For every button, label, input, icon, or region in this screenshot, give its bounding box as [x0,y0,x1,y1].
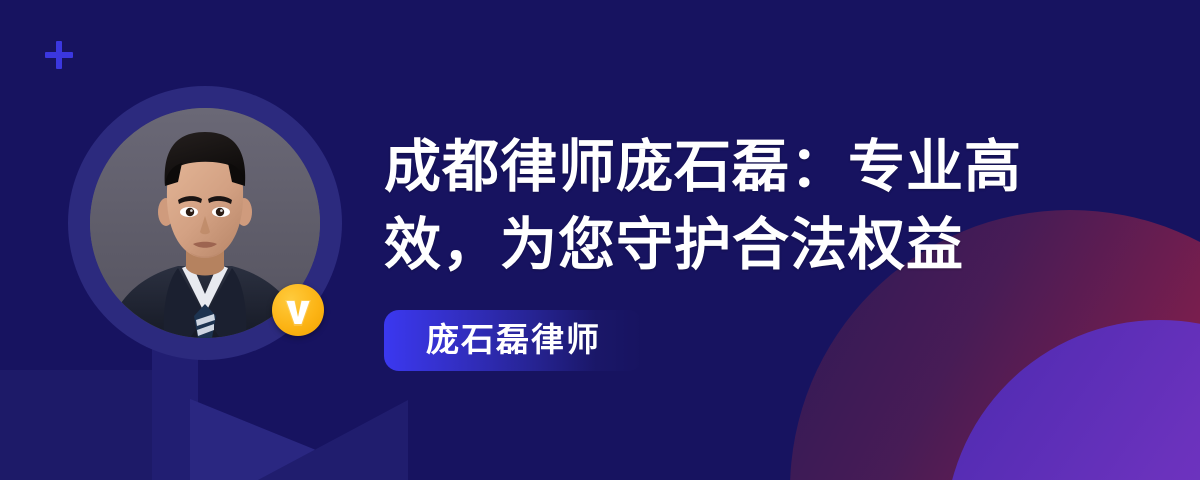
lawyer-promo-banner: 成都律师庞石磊：专业高 效，为您守护合法权益 庞石磊律师 [0,0,1200,480]
page-title: 成都律师庞石磊：专业高 效，为您守护合法权益 [384,128,1174,284]
banner-content: 成都律师庞石磊：专业高 效，为您守护合法权益 庞石磊律师 [384,128,1174,371]
name-badge: 庞石磊律师 [384,310,643,371]
decorative-polygon-column [0,370,152,480]
decorative-polygon-wedge [258,400,408,480]
plus-icon-vertical-bar [56,41,62,69]
plus-icon-horizontal-bar [45,52,73,58]
plus-icon [42,38,76,72]
name-badge-label: 庞石磊律师 [426,321,601,358]
avatar [68,86,342,360]
verified-badge [272,284,324,336]
decorative-polygon-triangle [190,376,390,480]
decorative-polygon-block [152,340,198,480]
